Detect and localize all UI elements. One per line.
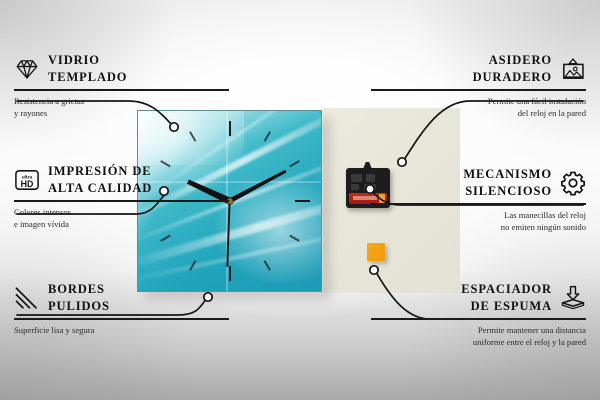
callout-rule <box>371 89 586 91</box>
callout-bordes-pulidos: BORDES PULIDOS Superficie lisa y segura <box>14 281 229 336</box>
diagonal-lines-icon <box>14 285 40 311</box>
callout-espaciador-de-espuma: ESPACIADOR DE ESPUMA Permite mantener un… <box>371 281 586 348</box>
foam-spacer <box>367 243 385 261</box>
callout-asidero-duradero: ASIDERO DURADERO Permite una fácil insta… <box>371 52 586 119</box>
callout-vidrio-templado: VIDRIO TEMPLADO Resistencia a grietas y … <box>14 52 229 119</box>
gear-icon <box>560 170 586 196</box>
callout-description: Permite una fácil instalación del reloj … <box>371 95 586 119</box>
diamond-icon <box>14 56 40 82</box>
callout-description: Superficie lisa y segura <box>14 324 229 336</box>
callout-description: Colores intensos e imagen vívida <box>14 206 229 230</box>
callout-rule <box>371 318 586 320</box>
callout-rule <box>14 318 229 320</box>
callout-title: ESPACIADOR DE ESPUMA <box>461 281 552 314</box>
infographic-canvas: VIDRIO TEMPLADO Resistencia a grietas y … <box>0 0 600 400</box>
clock-tick <box>230 200 310 202</box>
callout-description: Resistencia a grietas y rayones <box>14 95 229 119</box>
ultra-hd-icon: ultra HD <box>14 167 40 193</box>
callout-title: ASIDERO DURADERO <box>473 52 552 85</box>
callout-title: VIDRIO TEMPLADO <box>48 52 127 85</box>
callout-title: BORDES PULIDOS <box>48 281 110 314</box>
callout-description: Las manecillas del reloj no emiten ningú… <box>371 209 586 233</box>
callout-impresion-alta-calidad: ultra HD IMPRESIÓN DE ALTA CALIDAD Color… <box>14 163 229 230</box>
callout-rule <box>371 203 586 205</box>
callout-title: IMPRESIÓN DE ALTA CALIDAD <box>48 163 152 196</box>
arrow-foam-pad-icon <box>560 285 586 311</box>
callout-rule <box>14 89 229 91</box>
picture-frame-hanger-icon <box>560 56 586 82</box>
callout-rule <box>14 200 229 202</box>
svg-text:HD: HD <box>21 178 34 188</box>
callout-mecanismo-silencioso: MECANISMO SILENCIOSO Las manecillas del … <box>371 166 586 233</box>
callout-title: MECANISMO SILENCIOSO <box>463 166 552 199</box>
callout-description: Permite mantener una distancia uniforme … <box>371 324 586 348</box>
